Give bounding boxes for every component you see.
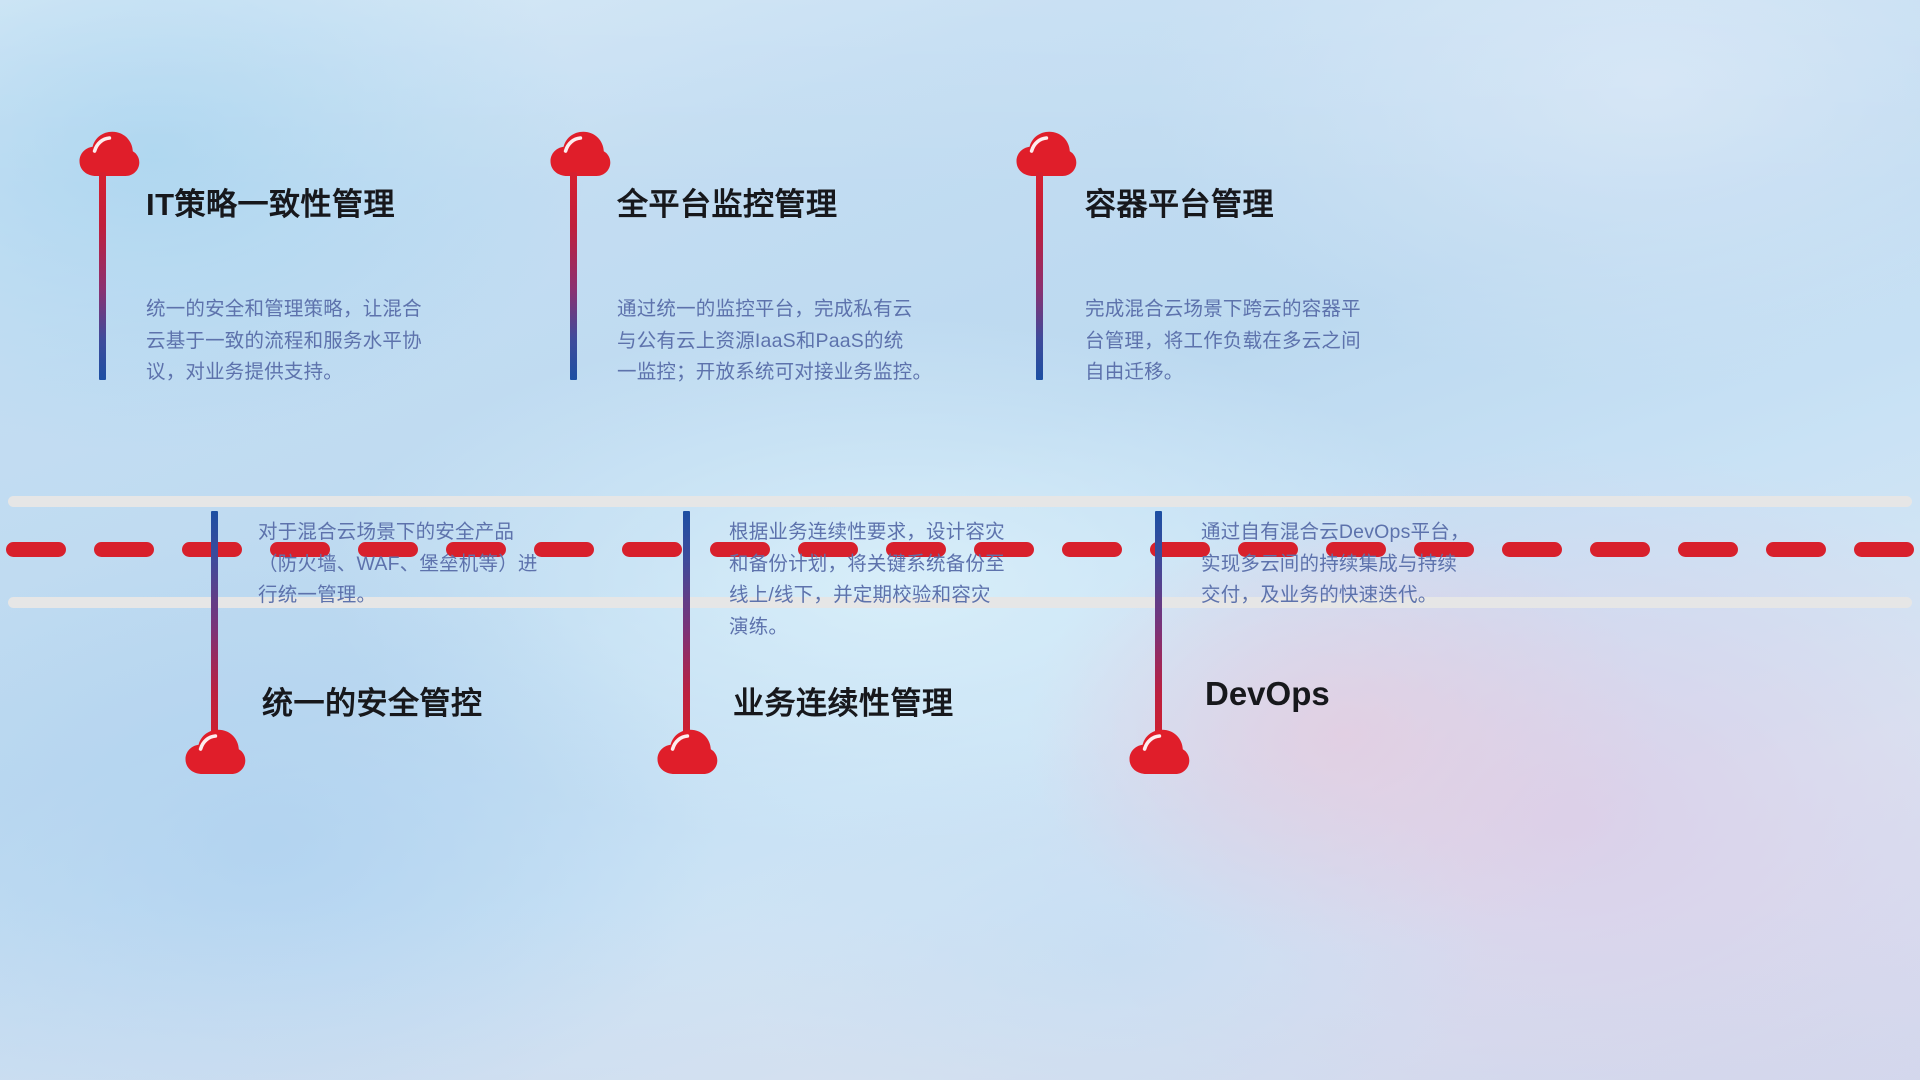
- cloud-icon: [1128, 729, 1190, 775]
- dash-segment: [1854, 542, 1914, 557]
- dash-segment: [94, 542, 154, 557]
- cloud-icon: [1015, 131, 1077, 177]
- column-body-text: 对于混合云场景下的安全产品 （防火墙、WAF、堡垒机等）进 行统一管理。: [258, 517, 626, 612]
- column-body-text: 通过自有混合云DevOps平台， 实现多云间的持续集成与持续 交付，及业务的快速…: [1201, 517, 1553, 612]
- accent-stem: [1036, 172, 1043, 380]
- column-body-text: 根据业务连续性要求，设计容灾 和备份计划，将关键系统备份至 线上/线下，并定期校…: [729, 517, 1089, 643]
- dash-segment: [1590, 542, 1650, 557]
- dash-segment: [622, 542, 682, 557]
- dash-segment: [6, 542, 66, 557]
- column-heading: 业务连续性管理: [733, 678, 954, 723]
- column-body-text: 通过统一的监控平台，完成私有云 与公有云上资源IaaS和PaaS的统 一监控；开…: [617, 294, 1009, 389]
- accent-stem: [211, 511, 218, 738]
- accent-stem: [1155, 511, 1162, 738]
- column-heading: 全平台监控管理: [617, 179, 838, 224]
- accent-stem: [683, 511, 690, 738]
- divider-rail-top: [8, 496, 1912, 507]
- column-body-text: 统一的安全和管理策略，让混合 云基于一致的流程和服务水平协 议，对业务提供支持。: [146, 294, 506, 389]
- column-body-text: 完成混合云场景下跨云的容器平 台管理，将工作负载在多云之间 自由迁移。: [1085, 294, 1457, 389]
- column-heading: DevOps: [1205, 675, 1330, 713]
- cloud-icon: [78, 131, 140, 177]
- cloud-icon: [549, 131, 611, 177]
- column-heading: 统一的安全管控: [262, 678, 483, 723]
- dash-segment: [1678, 542, 1738, 557]
- infographic-stage: IT策略一致性管理 统一的安全和管理策略，让混合 云基于一致的流程和服务水平协 …: [0, 0, 1920, 1080]
- accent-stem: [570, 172, 577, 380]
- dash-segment: [1766, 542, 1826, 557]
- cloud-icon: [184, 729, 246, 775]
- column-heading: 容器平台管理: [1085, 179, 1274, 224]
- column-heading: IT策略一致性管理: [146, 179, 395, 224]
- cloud-icon: [656, 729, 718, 775]
- accent-stem: [99, 172, 106, 380]
